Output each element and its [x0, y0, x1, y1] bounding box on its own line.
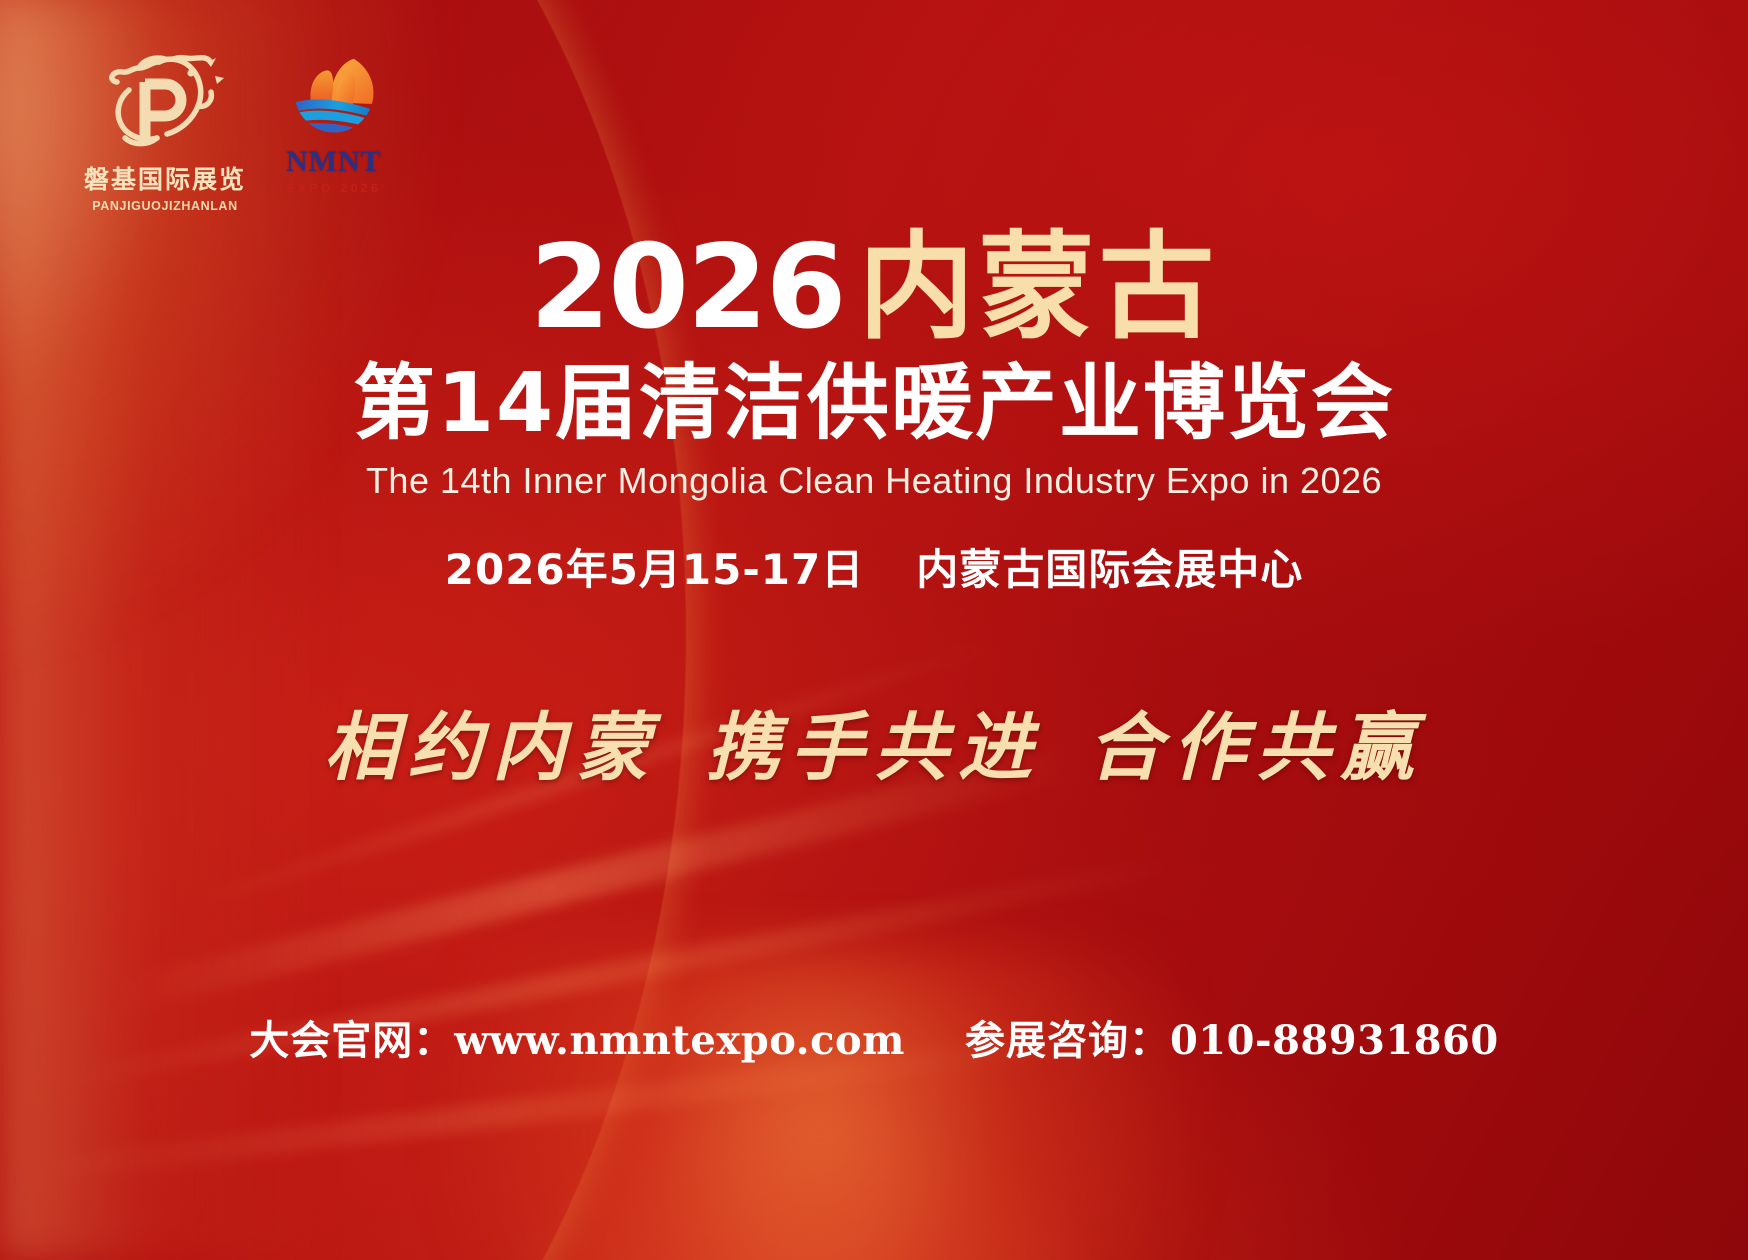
logo-bar: 磐基国际展览 PANJIGUOJIZHANLAN	[84, 46, 382, 213]
website-label: 大会官网：	[249, 1018, 454, 1064]
title-region: 内蒙古	[858, 220, 1218, 355]
sun-mountain-wave-emblem-icon	[287, 46, 381, 140]
website-value[interactable]: www.nmntexpo.com	[454, 1017, 905, 1064]
panji-logo: 磐基国际展览 PANJIGUOJIZHANLAN	[84, 46, 246, 213]
nmnt-wordmark: NMNT	[286, 145, 382, 179]
dragon-p-monogram-icon	[99, 46, 231, 154]
phone-value[interactable]: 010-88931860	[1170, 1017, 1499, 1064]
slogan-line: 相约内蒙携手共进合作共赢	[0, 688, 1748, 795]
panji-name-cn: 磐基国际展览	[84, 160, 246, 196]
title-cn: 第14届清洁供暖产业博览会	[0, 361, 1748, 448]
event-venue: 内蒙古国际会展中心	[916, 545, 1303, 594]
event-date: 2026年5月15-17日	[445, 545, 864, 594]
footer-contact: 大会官网：www.nmntexpo.com参展咨询：010-88931860	[0, 1008, 1748, 1066]
date-venue-line: 2026年5月15-17日内蒙古国际会展中心	[0, 536, 1748, 597]
panji-name-pinyin: PANJIGUOJIZHANLAN	[92, 199, 237, 213]
slogan-part-2: 携手共进	[706, 688, 1042, 795]
headline-block: 2026内蒙古 第14届清洁供暖产业博览会 The 14th Inner Mon…	[0, 228, 1748, 597]
nmnt-logo: NMNT EXPO 2026	[286, 46, 382, 195]
title-line-year-region: 2026内蒙古	[0, 228, 1748, 349]
bottom-light-bloom	[430, 950, 1210, 1260]
expo-poster: 磐基国际展览 PANJIGUOJIZHANLAN	[0, 0, 1748, 1260]
phone-label: 参展咨询：	[965, 1018, 1170, 1064]
nmnt-subtitle: EXPO 2026	[286, 181, 381, 195]
slogan-part-1: 相约内蒙	[324, 688, 660, 795]
slogan-part-3: 合作共赢	[1088, 688, 1424, 795]
title-en: The 14th Inner Mongolia Clean Heating In…	[0, 460, 1748, 502]
title-year: 2026	[530, 220, 845, 355]
